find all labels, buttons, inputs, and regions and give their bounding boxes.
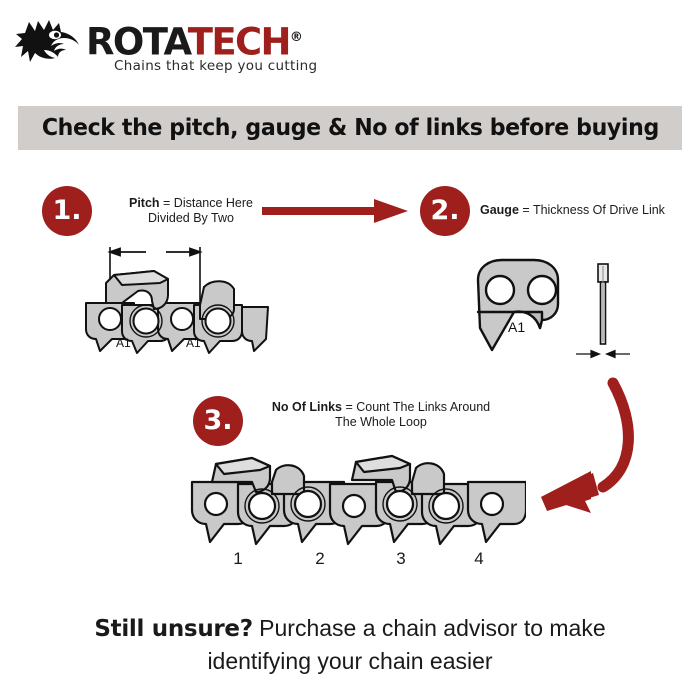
link-number-2: 2 bbox=[308, 549, 332, 569]
wordmark-rota: ROTA bbox=[86, 20, 188, 63]
brand-tagline: Chains that keep you cutting bbox=[114, 58, 317, 74]
footer-rest-line2: identifying your chain easier bbox=[207, 648, 492, 674]
registered-trademark-icon: ® bbox=[290, 30, 303, 45]
right-arrow-icon bbox=[262, 196, 410, 226]
pitch-label-a1-left: A1 bbox=[116, 336, 131, 350]
footer-lead: Still unsure? bbox=[94, 616, 252, 642]
step-3-caption: No Of Links = Count The Links AroundThe … bbox=[256, 400, 506, 430]
link-number-4: 4 bbox=[467, 549, 491, 569]
link-number-1: 1 bbox=[226, 549, 250, 569]
step-2-equals: = bbox=[519, 203, 533, 217]
step-badge-3: 3. bbox=[193, 396, 243, 446]
step-3-definition-line2: The Whole Loop bbox=[335, 415, 427, 429]
step-1-definition-line2: Divided By Two bbox=[148, 211, 234, 225]
step-badge-2: 2. bbox=[420, 186, 470, 236]
step-1-equals: = bbox=[160, 196, 174, 210]
step-1-caption: Pitch = Distance HereDivided By Two bbox=[106, 196, 276, 226]
piranha-fish-icon bbox=[14, 16, 92, 72]
step-3-term: No Of Links bbox=[272, 400, 342, 414]
footer-cta-text: Still unsure? Purchase a chain advisor t… bbox=[60, 612, 640, 677]
link-number-3: 3 bbox=[389, 549, 413, 569]
wordmark-tech: TECH bbox=[188, 20, 290, 63]
step-2-caption: Gauge = Thickness Of Drive Link bbox=[480, 203, 685, 218]
headline-banner: Check the pitch, gauge & No of links bef… bbox=[18, 106, 682, 150]
footer-rest-line1: Purchase a chain advisor to make bbox=[253, 615, 606, 641]
brand-logo: ROTATECH® Chains that keep you cutting bbox=[14, 16, 344, 78]
pitch-label-a1-right: A1 bbox=[186, 336, 201, 350]
step-3-definition-line1: Count The Links Around bbox=[356, 400, 490, 414]
brand-wordmark: ROTATECH® bbox=[86, 20, 303, 56]
drive-link-gauge-diagram: A1 bbox=[458, 250, 673, 370]
step-badge-1: 1. bbox=[42, 186, 92, 236]
infographic-page: ROTATECH® Chains that keep you cutting C… bbox=[0, 0, 700, 700]
headline-text: Check the pitch, gauge & No of links bef… bbox=[41, 115, 658, 141]
step-2-term: Gauge bbox=[480, 203, 519, 217]
step-2-definition-line1: Thickness Of Drive Link bbox=[533, 203, 665, 217]
step-3-equals: = bbox=[342, 400, 356, 414]
gauge-label-a1: A1 bbox=[508, 319, 525, 335]
step-1-term: Pitch bbox=[129, 196, 160, 210]
step-1-definition-line1: Distance Here bbox=[174, 196, 253, 210]
saw-chain-pitch-diagram: A1 A1 bbox=[82, 243, 322, 365]
